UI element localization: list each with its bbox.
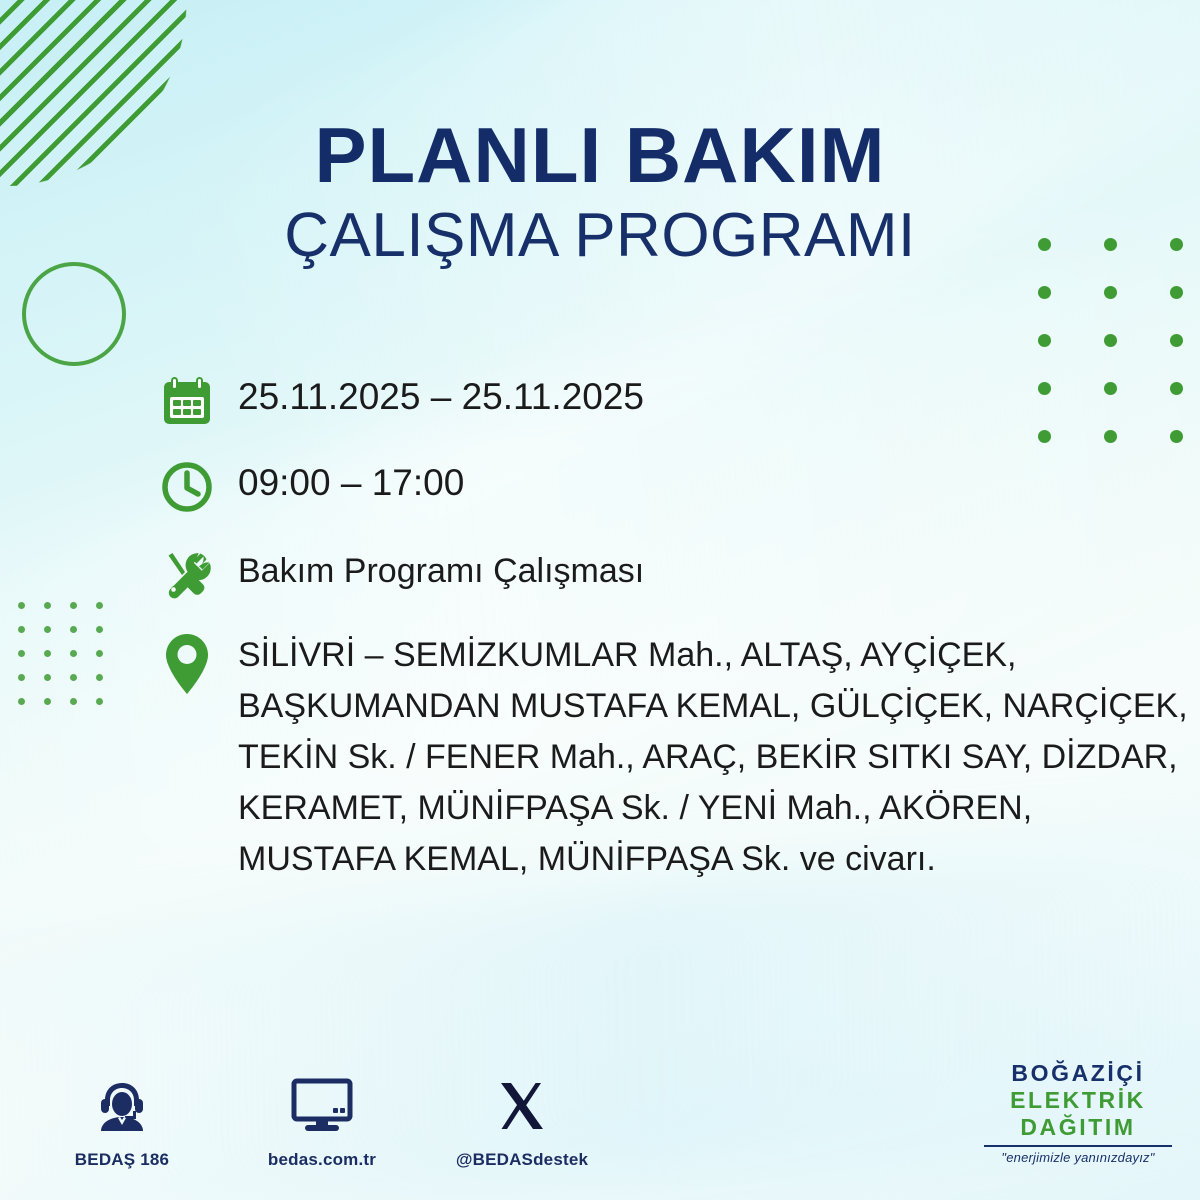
tools-icon: [160, 546, 238, 602]
location-pin-icon: [160, 630, 238, 698]
clock-icon: [160, 458, 238, 514]
footer-item-label: @BEDASdestek: [448, 1150, 596, 1170]
footer-item-label: BEDAŞ 186: [48, 1150, 196, 1170]
calendar-icon: [160, 372, 238, 428]
footer-item-website[interactable]: bedas.com.tr: [248, 1068, 396, 1170]
logo-tagline: "enerjimizle yanınızdayız": [978, 1150, 1178, 1165]
logo-line-1: BOĞAZİÇİ: [978, 1060, 1178, 1087]
title-line-1: PLANLI BAKIM: [0, 112, 1200, 198]
logo-line-2: ELEKTRİK: [978, 1087, 1178, 1114]
page-title: PLANLI BAKIM ÇALIŞMA PROGRAMI: [0, 112, 1200, 272]
planned-maintenance-poster: PLANLI BAKIM ÇALIŞMA PROGRAMI: [0, 0, 1200, 1200]
circle-outline-decoration: [22, 262, 126, 366]
time-range-value: 09:00 – 17:00: [238, 458, 1190, 508]
headset-support-icon: [48, 1068, 196, 1144]
bedas-logo: BOĞAZİÇİ ELEKTRİK DAĞITIM "enerjimizle y…: [978, 1060, 1178, 1165]
footer-item-label: bedas.com.tr: [248, 1150, 396, 1170]
logo-divider: [984, 1145, 1172, 1147]
footer-item-phone[interactable]: BEDAŞ 186: [48, 1068, 196, 1170]
detail-row-time: 09:00 – 17:00: [160, 458, 1190, 514]
x-social-icon: [448, 1068, 596, 1144]
detail-row-date: 25.11.2025 – 25.11.2025: [160, 372, 1190, 428]
location-value: SİLİVRİ – SEMİZKUMLAR Mah., ALTAŞ, AYÇİÇ…: [238, 630, 1190, 885]
work-type-value: Bakım Programı Çalışması: [238, 546, 1190, 596]
detail-row-location: SİLİVRİ – SEMİZKUMLAR Mah., ALTAŞ, AYÇİÇ…: [160, 630, 1190, 885]
title-line-2: ÇALIŞMA PROGRAMI: [0, 200, 1200, 272]
footer-contact-list: BEDAŞ 186 bedas.com.tr @BEDASdestek: [48, 1068, 596, 1170]
footer-item-social[interactable]: @BEDASdestek: [448, 1068, 596, 1170]
dot-grid-decoration-left: [18, 602, 122, 722]
logo-line-3: DAĞITIM: [978, 1114, 1178, 1141]
date-range-value: 25.11.2025 – 25.11.2025: [238, 372, 1190, 422]
monitor-website-icon: [248, 1068, 396, 1144]
detail-row-work-type: Bakım Programı Çalışması: [160, 546, 1190, 602]
details-list: 25.11.2025 – 25.11.2025 09:00 – 17:00: [160, 372, 1190, 919]
